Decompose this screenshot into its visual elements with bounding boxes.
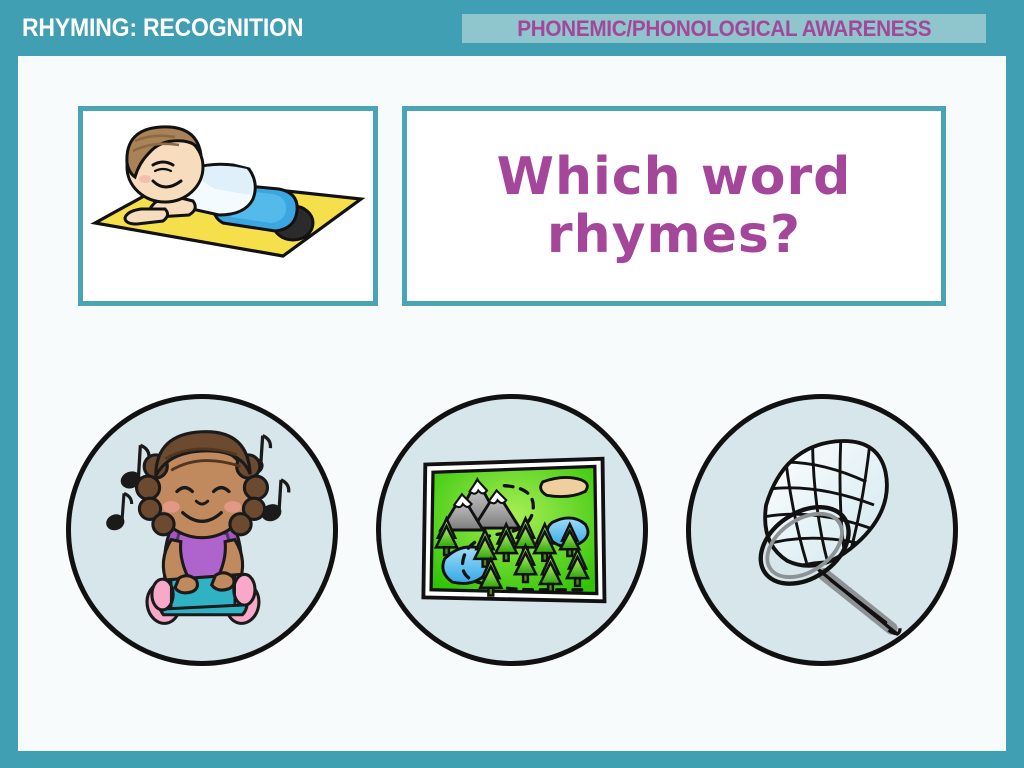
answer-option-drum[interactable] <box>66 394 338 666</box>
worksheet-slide: RHYMING: RECOGNITION PHONEMIC/PHONOLOGIC… <box>0 0 1024 768</box>
napping-child-icon <box>83 111 373 301</box>
question-line-1: Which word <box>497 148 852 206</box>
question-line-2: rhymes? <box>497 206 852 264</box>
header-bar: RHYMING: RECOGNITION PHONEMIC/PHONOLOGIC… <box>0 0 1024 56</box>
content-panel: Which word rhymes? <box>18 56 1006 751</box>
prompt-image-box <box>78 106 378 306</box>
answer-option-net[interactable] <box>686 394 958 666</box>
category-badge-label: PHONEMIC/PHONOLOGICAL AWARENESS <box>517 16 931 42</box>
category-badge: PHONEMIC/PHONOLOGICAL AWARENESS <box>462 14 986 43</box>
page-title: RHYMING: RECOGNITION <box>22 14 303 43</box>
answer-option-map[interactable] <box>376 394 648 666</box>
question-text: Which word rhymes? <box>497 148 852 264</box>
answer-options <box>18 394 1006 694</box>
question-box: Which word rhymes? <box>402 106 946 306</box>
